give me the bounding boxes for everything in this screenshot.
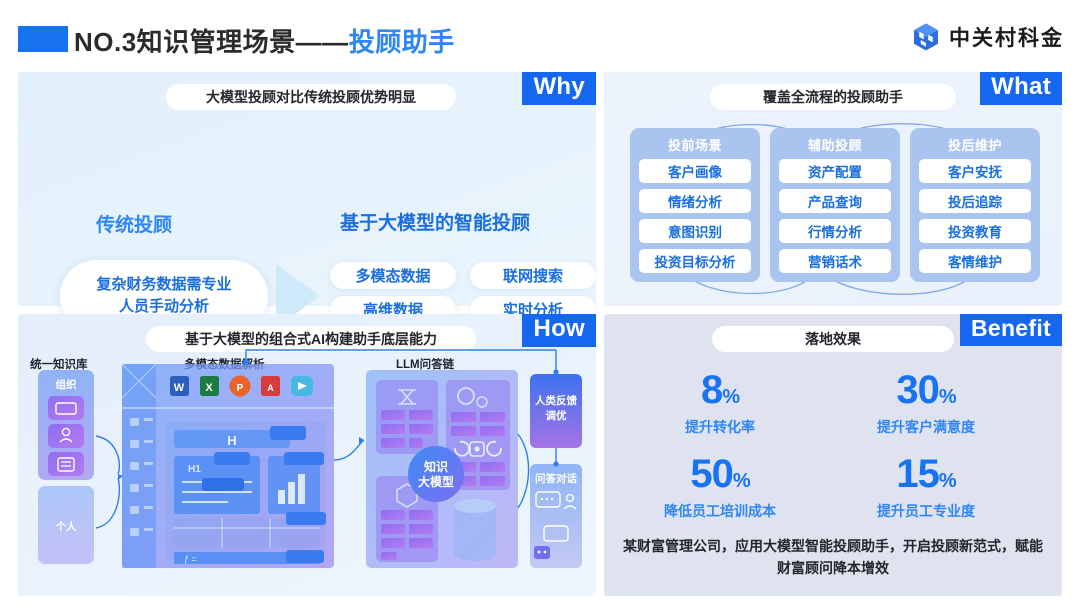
brand: 中关村科金: [911, 22, 1064, 52]
cube-logo-icon: [911, 22, 941, 52]
page-title-accent: 投顾助手: [349, 27, 455, 57]
benefit-stat-label: 提升客户满意度: [836, 417, 1016, 437]
title-accent-bar: [18, 26, 68, 52]
what-item[interactable]: 资产配置: [779, 159, 891, 183]
what-item[interactable]: 投后追踪: [919, 189, 1031, 213]
why-pill: 联网搜索: [470, 262, 596, 289]
dialog-label: 问答对话: [535, 472, 577, 485]
benefit-stat-value: 50%: [630, 454, 810, 494]
page-title-main: NO.3知识管理场景——: [74, 27, 349, 57]
what-item[interactable]: 客户画像: [639, 159, 751, 183]
why-heading-ai: 基于大模型的智能投顾: [340, 208, 530, 235]
why-caption: 大模型投顾对比传统投顾优势明显: [166, 84, 456, 110]
what-item[interactable]: 投资教育: [919, 219, 1031, 243]
what-column-title: 投后维护: [919, 135, 1031, 154]
tag-why: Why: [522, 72, 596, 105]
what-item[interactable]: 行情分析: [779, 219, 891, 243]
core-model-circle: [408, 446, 464, 502]
what-column-post-investment: 投后维护 客户安抚 投后追踪 投资教育 客情维护: [910, 128, 1040, 282]
tag-what: What: [980, 72, 1062, 105]
what-column-title: 投前场景: [639, 135, 751, 154]
svg-text:A: A: [267, 383, 274, 393]
core-model-line2: 大模型: [418, 474, 454, 489]
benefit-caption: 落地效果: [712, 326, 954, 352]
benefit-stat: 8% 提升转化率: [630, 370, 810, 437]
how-multimodal-group: W X P A H H1: [122, 364, 334, 568]
why-pill: 多模态数据: [330, 262, 456, 289]
benefit-footnote: 某财富管理公司，应用大模型智能投顾助手，开启投顾新范式，赋能财富顾问降本增效: [620, 536, 1046, 579]
why-heading-traditional: 传统投顾: [96, 210, 172, 237]
what-item[interactable]: 营销话术: [779, 249, 891, 273]
svg-text:X: X: [205, 382, 213, 394]
benefit-stat: 50% 降低员工培训成本: [630, 454, 810, 521]
svg-text:H1: H1: [188, 464, 201, 475]
how-feedback-group: 人类反馈 调优 问答对话: [530, 374, 582, 568]
feedback-line2: 调优: [546, 409, 567, 422]
what-item[interactable]: 投资目标分析: [639, 249, 751, 273]
benefit-stat-value: 8%: [630, 370, 810, 410]
what-columns: 投前场景 客户画像 情绪分析 意图识别 投资目标分析 辅助投顾 资产配置 产品查…: [630, 128, 1040, 282]
kb-org-label: 组织: [56, 378, 77, 391]
svg-text:P: P: [237, 383, 244, 394]
page-header: NO.3知识管理场景——投顾助手 中关村科金: [0, 0, 1080, 70]
svg-text:ƒ =: ƒ =: [184, 554, 197, 564]
benefit-stat-label: 提升转化率: [630, 417, 810, 437]
benefit-stat-label: 提升员工专业度: [836, 501, 1016, 521]
what-item[interactable]: 客情维护: [919, 249, 1031, 273]
benefit-stat-value: 30%: [836, 370, 1016, 410]
feedback-line1: 人类反馈: [535, 394, 577, 407]
panel-what: What 覆盖全流程的投顾助手 投前场景 客户画像 情绪分析 意图识别 投资目标…: [604, 72, 1062, 306]
page-title: NO.3知识管理场景——投顾助手: [74, 22, 455, 59]
why-blob-line1: 复杂财务数据需专业: [96, 274, 231, 296]
what-caption: 覆盖全流程的投顾助手: [710, 84, 956, 110]
what-column-pre-investment: 投前场景 客户画像 情绪分析 意图识别 投资目标分析: [630, 128, 760, 282]
how-diagram: 组织 个人 W X P: [18, 314, 596, 596]
what-item[interactable]: 意图识别: [639, 219, 751, 243]
benefit-stat-value: 15%: [836, 454, 1016, 494]
core-model-line1: 知识: [423, 459, 448, 474]
how-knowledge-base-group: 组织 个人: [38, 370, 94, 564]
svg-text:W: W: [174, 382, 185, 394]
what-item[interactable]: 客户安抚: [919, 159, 1031, 183]
how-llm-chain-group: 知识 大模型: [366, 370, 518, 568]
benefit-stat: 30% 提升客户满意度: [836, 370, 1016, 437]
tag-benefit: Benefit: [960, 314, 1062, 346]
what-column-title: 辅助投顾: [779, 135, 891, 154]
what-item[interactable]: 产品查询: [779, 189, 891, 213]
kb-personal-label: 个人: [55, 520, 77, 533]
benefit-stat-label: 降低员工培训成本: [630, 501, 810, 521]
svg-text:H: H: [227, 433, 236, 448]
panel-benefit: Benefit 落地效果 8% 提升转化率 30% 提升客户满意度 50% 降低…: [604, 314, 1062, 596]
what-item[interactable]: 情绪分析: [639, 189, 751, 213]
panel-why: Why 大模型投顾对比传统投顾优势明显 传统投顾 基于大模型的智能投顾 复杂财务…: [18, 72, 596, 306]
benefit-stat: 15% 提升员工专业度: [836, 454, 1016, 521]
brand-name: 中关村科金: [949, 22, 1064, 52]
what-column-advisory: 辅助投顾 资产配置 产品查询 行情分析 营销话术: [770, 128, 900, 282]
